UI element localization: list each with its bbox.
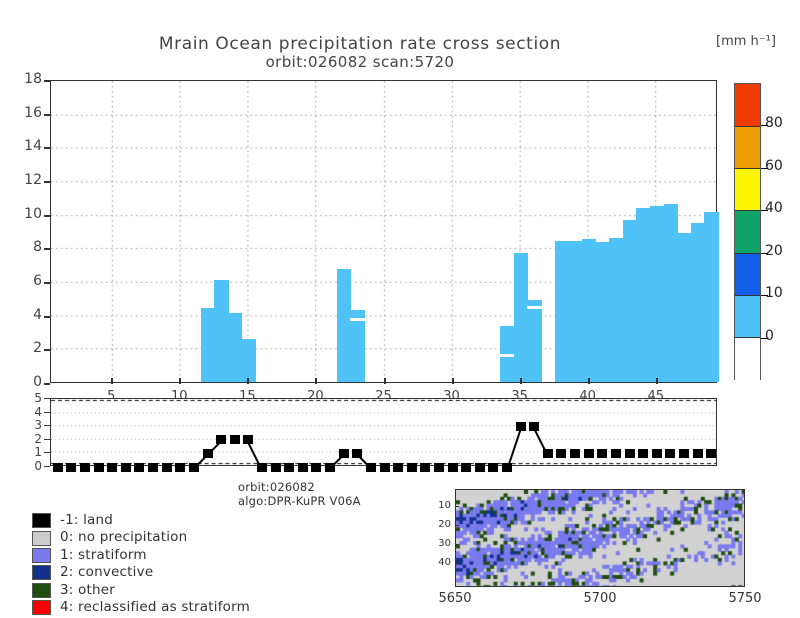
class-y-tick-mark xyxy=(44,412,50,413)
inset-y-tick-mark xyxy=(455,563,459,564)
legend-label: -1: land xyxy=(60,512,113,529)
main-y-tick-label: 12 xyxy=(4,172,42,188)
precip-bar xyxy=(691,223,705,382)
classification-legend: -1: land0: no precipitation1: stratiform… xyxy=(32,512,250,616)
precip-bar xyxy=(609,238,623,382)
inset-x-tick-label: 5750 xyxy=(715,591,775,606)
colorbar-tick-label: 40 xyxy=(765,200,783,216)
inset-swath-map[interactable] xyxy=(455,489,745,587)
legend-swatch xyxy=(32,583,51,598)
precip-bar xyxy=(595,242,609,382)
colorbar-tick-label: 80 xyxy=(765,115,783,131)
main-y-tick-mark xyxy=(44,114,50,116)
inset-y-tick-mark xyxy=(455,506,459,507)
main-y-tick-mark xyxy=(44,248,50,250)
inset-y-tick-mark xyxy=(455,544,459,545)
colorbar-tick-mark xyxy=(761,253,768,254)
colorbar-tick-label: 0 xyxy=(765,328,774,344)
precip-bar xyxy=(636,208,650,382)
precip-bar-gap xyxy=(527,306,541,309)
class-connector xyxy=(330,453,345,468)
inset-x-tick-label: 5650 xyxy=(425,591,485,606)
class-marker xyxy=(420,463,430,472)
class-marker xyxy=(584,449,594,458)
class-marker xyxy=(448,463,458,472)
precip-bar xyxy=(677,233,691,382)
precip-bar-gap xyxy=(350,318,364,321)
precip-bar xyxy=(623,220,637,382)
class-marker xyxy=(625,449,635,458)
main-y-tick-label: 8 xyxy=(4,239,42,255)
main-x-tick-mark xyxy=(247,378,249,384)
precip-bar xyxy=(214,280,228,382)
legend-label: 2: convective xyxy=(60,564,153,581)
precip-bar xyxy=(582,239,596,382)
main-x-tick-mark xyxy=(384,378,386,384)
class-marker xyxy=(611,449,621,458)
legend-swatch xyxy=(32,600,51,615)
precip-bar xyxy=(201,308,215,382)
colorbar-tick-mark xyxy=(761,168,768,169)
main-x-tick-mark xyxy=(111,378,113,384)
legend-swatch xyxy=(32,565,51,580)
main-y-tick-mark xyxy=(44,349,50,351)
colorbar-tick-label: 60 xyxy=(765,158,783,174)
class-marker xyxy=(162,463,172,472)
main-y-tick-label: 0 xyxy=(4,374,42,390)
inset-y-tick-label: 40 xyxy=(431,557,451,568)
class-y-tick-mark xyxy=(44,439,50,440)
class-marker xyxy=(556,449,566,458)
main-x-tick-mark xyxy=(452,378,454,384)
class-y-tick-label: 2 xyxy=(16,432,42,446)
colorbar-tick-mark xyxy=(761,338,768,339)
meta-orbit: orbit:026082 xyxy=(238,480,361,494)
class-marker xyxy=(284,463,294,472)
class-y-tick-mark xyxy=(44,466,50,467)
colorbar-tick-label: 10 xyxy=(765,285,783,301)
legend-item: 2: convective xyxy=(32,564,250,581)
class-marker xyxy=(94,463,104,472)
precip-bar xyxy=(242,339,256,382)
colorbar[interactable] xyxy=(734,83,761,380)
main-y-tick-mark xyxy=(44,383,50,385)
inset-y-tick-mark xyxy=(455,525,459,526)
inset-y-tick-label: 10 xyxy=(431,500,451,511)
class-marker xyxy=(298,463,308,472)
class-y-tick-label: 5 xyxy=(16,391,42,405)
main-y-tick-label: 10 xyxy=(4,206,42,222)
precipitation-bars xyxy=(51,81,716,382)
colorbar-band-20-40 xyxy=(735,210,760,253)
main-x-tick-mark xyxy=(520,378,522,384)
class-marker xyxy=(107,463,117,472)
class-marker xyxy=(393,463,403,472)
class-marker xyxy=(80,463,90,472)
colorbar-band-0-10 xyxy=(735,295,760,338)
class-marker xyxy=(311,463,321,472)
class-marker xyxy=(121,463,131,472)
main-y-tick-mark xyxy=(44,215,50,217)
main-y-tick-mark xyxy=(44,147,50,149)
inset-y-tick-label: 30 xyxy=(431,538,451,549)
class-y-tick-label: 0 xyxy=(16,459,42,473)
main-y-tick-mark xyxy=(44,181,50,183)
class-marker xyxy=(434,463,444,472)
class-y-tick-mark xyxy=(44,452,50,453)
legend-swatch xyxy=(32,548,51,563)
main-x-tick-mark xyxy=(588,378,590,384)
legend-label: 1: stratiform xyxy=(60,547,147,564)
class-marker xyxy=(407,463,417,472)
class-marker xyxy=(597,449,607,458)
precip-bar xyxy=(514,253,528,382)
main-y-tick-label: 4 xyxy=(4,307,42,323)
legend-item: 1: stratiform xyxy=(32,547,250,564)
precip-bar xyxy=(337,269,351,382)
main-x-tick-mark xyxy=(315,378,317,384)
colorbar-band-10-20 xyxy=(735,253,760,296)
class-y-tick-label: 3 xyxy=(16,418,42,432)
class-connector xyxy=(533,426,548,454)
main-x-tick-mark xyxy=(656,378,658,384)
class-marker xyxy=(271,463,281,472)
main-y-tick-label: 6 xyxy=(4,273,42,289)
page-title: Mrain Ocean precipitation rate cross sec… xyxy=(0,34,720,54)
colorbar-tick-mark xyxy=(761,295,768,296)
class-y-tick-label: 4 xyxy=(16,405,42,419)
legend-swatch xyxy=(32,513,51,528)
class-marker xyxy=(638,449,648,458)
class-connector xyxy=(208,440,223,455)
class-marker xyxy=(148,463,158,472)
class-y-tick-label: 1 xyxy=(16,445,42,459)
precip-bar xyxy=(650,206,664,382)
class-connector xyxy=(507,426,522,467)
precip-bar xyxy=(664,204,678,382)
inset-y-tick-label: 20 xyxy=(431,519,451,530)
colorbar-unit-label: [mm h⁻¹] xyxy=(716,34,800,49)
class-connector xyxy=(194,453,209,468)
legend-item: 4: reclassified as stratiform xyxy=(32,599,250,616)
precip-bar-gap xyxy=(500,354,514,357)
class-marker xyxy=(488,463,498,472)
main-x-tick-mark xyxy=(179,378,181,384)
legend-swatch xyxy=(32,531,51,546)
class-marker xyxy=(66,463,76,472)
class-marker xyxy=(679,449,689,458)
class-marker xyxy=(665,449,675,458)
main-y-tick-mark xyxy=(44,80,50,82)
legend-label: 0: no precipitation xyxy=(60,529,187,546)
main-y-tick-label: 16 xyxy=(4,105,42,121)
legend-item: 0: no precipitation xyxy=(32,529,250,546)
class-marker xyxy=(175,463,185,472)
precip-bar xyxy=(555,241,569,382)
class-marker xyxy=(652,449,662,458)
precip-bar xyxy=(704,212,718,382)
class-y-tick-mark xyxy=(44,398,50,399)
precip-bar xyxy=(527,300,541,382)
precip-bar xyxy=(228,313,242,382)
legend-item: -1: land xyxy=(32,512,250,529)
colorbar-tick-label: 20 xyxy=(765,243,783,259)
main-cross-section-plot[interactable] xyxy=(50,80,717,383)
class-marker xyxy=(461,463,471,472)
colorbar-band-40-60 xyxy=(735,168,760,211)
class-marker xyxy=(134,463,144,472)
colorbar-band-above-80 xyxy=(735,84,760,126)
main-y-tick-label: 14 xyxy=(4,138,42,154)
colorbar-band-60-80 xyxy=(735,126,760,169)
classification-strip-plot[interactable] xyxy=(50,398,717,466)
class-connector xyxy=(356,453,371,468)
main-y-tick-label: 2 xyxy=(4,340,42,356)
class-marker xyxy=(380,463,390,472)
colorbar-band-below-0 xyxy=(735,337,760,380)
main-y-tick-mark xyxy=(44,282,50,284)
class-marker xyxy=(570,449,580,458)
metadata-block: orbit:026082 algo:DPR-KuPR V06A xyxy=(238,480,361,508)
meta-algo: algo:DPR-KuPR V06A xyxy=(238,494,361,508)
class-marker xyxy=(706,449,716,458)
page-subtitle: orbit:026082 scan:5720 xyxy=(0,53,720,71)
class-marker xyxy=(475,463,485,472)
class-marker xyxy=(230,435,240,444)
class-marker xyxy=(693,449,703,458)
main-y-tick-label: 18 xyxy=(4,71,42,87)
main-y-tick-mark xyxy=(44,316,50,318)
legend-label: 4: reclassified as stratiform xyxy=(60,599,250,616)
legend-label: 3: other xyxy=(60,582,115,599)
inset-x-tick-label: 5700 xyxy=(570,591,630,606)
inset-map-raster xyxy=(456,490,745,587)
colorbar-tick-mark xyxy=(761,210,768,211)
colorbar-tick-mark xyxy=(761,125,768,126)
legend-item: 3: other xyxy=(32,582,250,599)
class-connector xyxy=(247,440,262,468)
class-y-tick-mark xyxy=(44,425,50,426)
class-marker xyxy=(53,463,63,472)
precip-bar xyxy=(568,241,582,382)
precip-bar xyxy=(350,310,364,382)
